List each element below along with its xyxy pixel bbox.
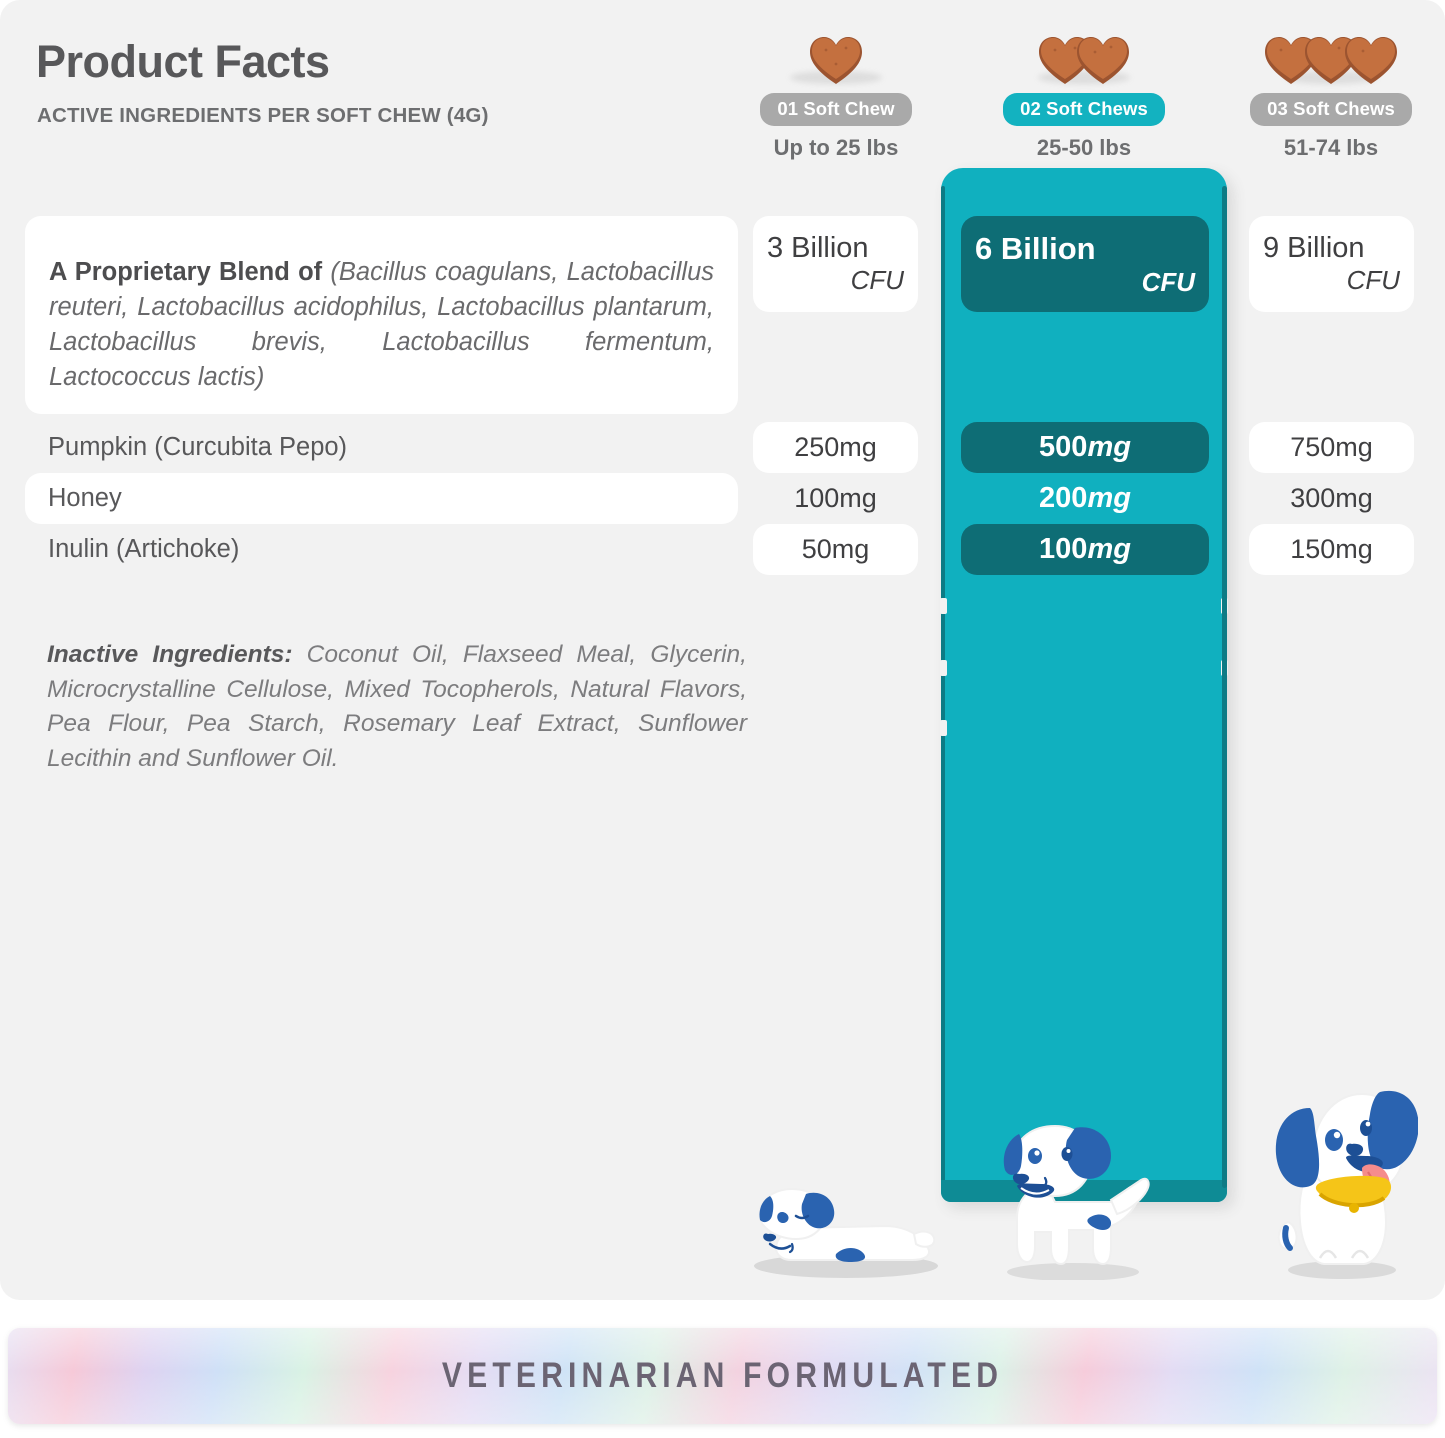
ingredient-name-cell: Honey	[25, 473, 738, 524]
ingredients-table: A Proprietary Blend of (Bacillus coagula…	[0, 216, 1445, 575]
value-cell-col1: 3 Billion CFU	[753, 216, 918, 312]
column-notch	[940, 720, 947, 736]
value-cell-col3: 9 Billion CFU	[1249, 216, 1414, 312]
inactive-ingredients-label: Inactive Ingredients:	[47, 641, 293, 668]
dosage-badge-2: 02 Soft Chews	[1003, 93, 1165, 126]
value-cell-col1: 50mg	[753, 524, 918, 575]
inactive-ingredients: Inactive Ingredients: Coconut Oil, Flaxs…	[47, 638, 747, 776]
column-notch	[1221, 598, 1228, 614]
dog-illustration-large	[1258, 1072, 1418, 1280]
weight-range-2: 25-50 lbs	[969, 135, 1199, 161]
veterinarian-formulated-banner: VETERINARIAN FORMULATED	[8, 1328, 1437, 1424]
ingredient-name: Honey	[48, 481, 122, 516]
dosage-badge-3: 03 Soft Chews	[1250, 93, 1412, 126]
value-cell-col3: 150mg	[1249, 524, 1414, 575]
soft-chew-icon	[808, 34, 864, 86]
table-row: Inulin (Artichoke) 50mg 100mg 150mg	[0, 524, 1445, 575]
dog-illustration-medium	[985, 1122, 1155, 1280]
value-cell-col2: 500mg	[961, 422, 1209, 473]
dosage-column-header-2: 02 Soft Chews 25-50 lbs	[969, 24, 1199, 161]
chew-icon-group-2	[969, 24, 1199, 86]
dog-illustration-small	[736, 1168, 946, 1278]
value-cell-col3: 750mg	[1249, 422, 1414, 473]
value-cell-col2: 100mg	[961, 524, 1209, 575]
dosage-badge-1: 01 Soft Chew	[760, 93, 911, 126]
product-facts-infographic: Product Facts ACTIVE INGREDIENTS PER SOF…	[0, 0, 1445, 1438]
column-notch	[940, 660, 947, 676]
column-notch	[940, 598, 947, 614]
table-row: A Proprietary Blend of (Bacillus coagula…	[0, 216, 1445, 414]
ingredient-name-bold: A Proprietary Blend of	[49, 258, 322, 286]
table-row: Honey 100mg 200mg 300mg	[0, 473, 1445, 524]
ingredient-name: Inulin (Artichoke)	[48, 532, 239, 567]
weight-range-1: Up to 25 lbs	[721, 135, 951, 161]
ingredient-name-cell: Inulin (Artichoke)	[48, 524, 239, 575]
ingredient-name: Pumpkin (Curcubita Pepo)	[48, 430, 347, 465]
soft-chew-icon	[1343, 34, 1399, 86]
table-row: Pumpkin (Curcubita Pepo) 250mg 500mg 750…	[0, 422, 1445, 473]
page-title: Product Facts	[36, 36, 330, 88]
page-subtitle: ACTIVE INGREDIENTS PER SOFT CHEW (4G)	[37, 104, 489, 128]
value-cell-col3: 300mg	[1249, 473, 1414, 524]
chew-icon-group-3	[1216, 24, 1445, 86]
value-cell-col1: 100mg	[753, 473, 918, 524]
soft-chew-icon	[1075, 34, 1131, 86]
ingredient-name-cell: Pumpkin (Curcubita Pepo)	[48, 422, 347, 473]
value-cell-col2: 6 Billion CFU	[961, 216, 1209, 312]
column-notch	[1221, 660, 1228, 676]
banner-text: VETERINARIAN FORMULATED	[108, 1328, 1337, 1424]
value-cell-col2: 200mg	[961, 473, 1209, 524]
weight-range-3: 51-74 lbs	[1216, 135, 1445, 161]
dosage-column-header-1: 01 Soft Chew Up to 25 lbs	[721, 24, 951, 161]
value-cell-col1: 250mg	[753, 422, 918, 473]
facts-card: Product Facts ACTIVE INGREDIENTS PER SOF…	[0, 0, 1445, 1300]
dosage-column-header-3: 03 Soft Chews 51-74 lbs	[1216, 24, 1445, 161]
chew-icon-group-1	[721, 24, 951, 86]
ingredient-name-cell: A Proprietary Blend of (Bacillus coagula…	[25, 216, 738, 414]
